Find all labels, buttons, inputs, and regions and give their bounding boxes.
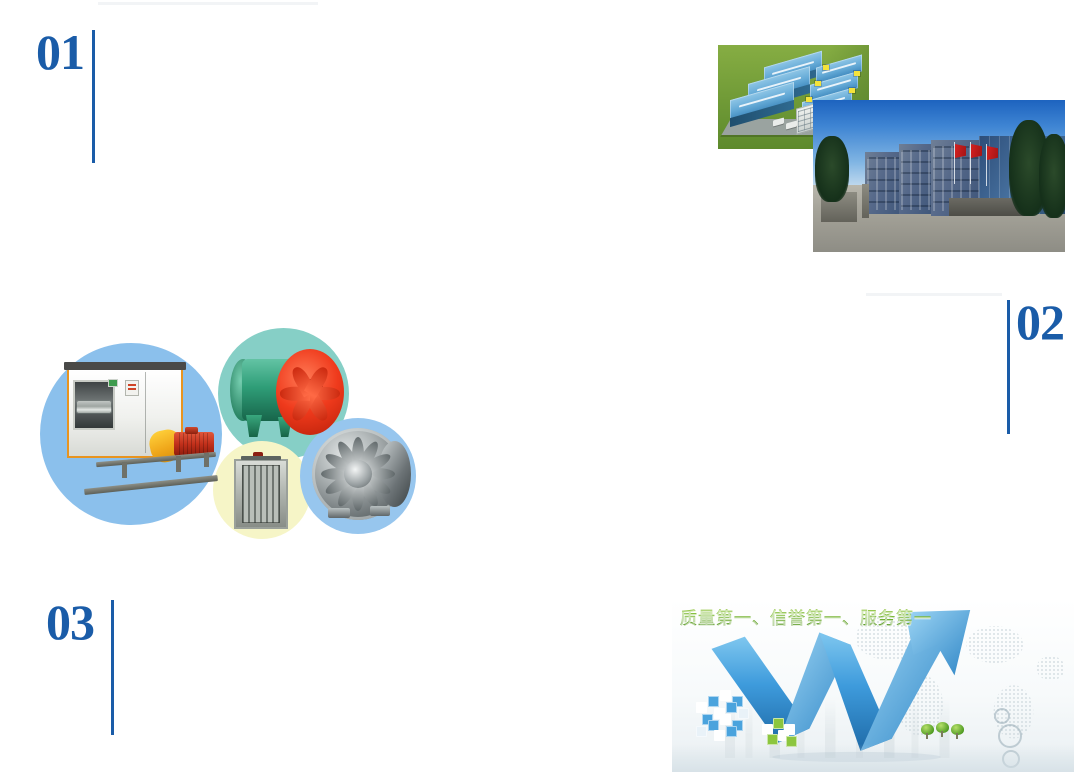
- red-flag: [971, 144, 982, 158]
- scan-artifact-top: [98, 2, 318, 5]
- mixed-flow-metal-fan-image: [312, 428, 404, 520]
- section-rule-01: [92, 30, 95, 163]
- red-flag: [987, 146, 998, 160]
- flag-pole: [986, 144, 987, 186]
- scan-artifact-right: [866, 293, 1002, 296]
- green-cube-cluster-icon: [762, 714, 800, 748]
- factory-roof-marker: [849, 88, 855, 93]
- flag-pole: [954, 142, 955, 184]
- blue-cube-cluster-icon: [696, 686, 756, 742]
- section-number-03: 03: [46, 597, 94, 647]
- banner-slogan: 质量第一、信誉第一、服务第一: [680, 604, 932, 629]
- metal-fan-foot: [328, 508, 350, 518]
- box-fan-base-leg: [176, 456, 181, 472]
- tree-icon: [951, 724, 964, 739]
- tree-icon: [921, 724, 934, 739]
- box-fan-base-leg: [122, 462, 127, 478]
- filter-box-media: [242, 465, 281, 524]
- decorative-circle: [994, 708, 1010, 724]
- page-root: 01: [0, 0, 1074, 772]
- office-building-photo: [813, 100, 1065, 252]
- factory-roof-marker: [823, 65, 829, 70]
- box-fan-base-leg: [204, 453, 209, 467]
- banner-floor-reflection: [672, 744, 1074, 772]
- factory-roof-marker: [854, 71, 860, 76]
- box-fan-label: [108, 379, 118, 387]
- office-tree: [1039, 134, 1065, 218]
- filter-box-top-bar: [241, 456, 281, 460]
- air-filter-box-image: [234, 459, 288, 529]
- section-number-02: 02: [1016, 297, 1064, 347]
- box-fan-control-panel: [125, 380, 139, 396]
- growth-arrow-banner: 质量第一、信誉第一、服务第一: [672, 598, 1074, 772]
- section-rule-02: [1007, 300, 1010, 434]
- box-fan-top-cap: [64, 362, 186, 370]
- office-gate-post: [862, 184, 869, 218]
- red-flag: [955, 144, 966, 158]
- metal-fan-foot: [370, 506, 390, 516]
- axial-fan-support-foot: [246, 415, 262, 437]
- box-fan-motor-terminal-box: [185, 427, 198, 434]
- axial-fan-impeller-ring: [276, 349, 344, 435]
- flag-pole: [970, 142, 971, 184]
- tree-icon: [936, 722, 949, 737]
- office-tree: [815, 136, 849, 202]
- box-fan-panel-seam: [145, 372, 146, 453]
- box-fan-impeller: [76, 400, 112, 414]
- factory-roof-marker: [806, 97, 812, 102]
- factory-roof-marker: [815, 81, 821, 86]
- section-number-01: 01: [36, 27, 84, 77]
- section-rule-03: [111, 600, 114, 735]
- metal-fan-hub-cone: [344, 460, 372, 488]
